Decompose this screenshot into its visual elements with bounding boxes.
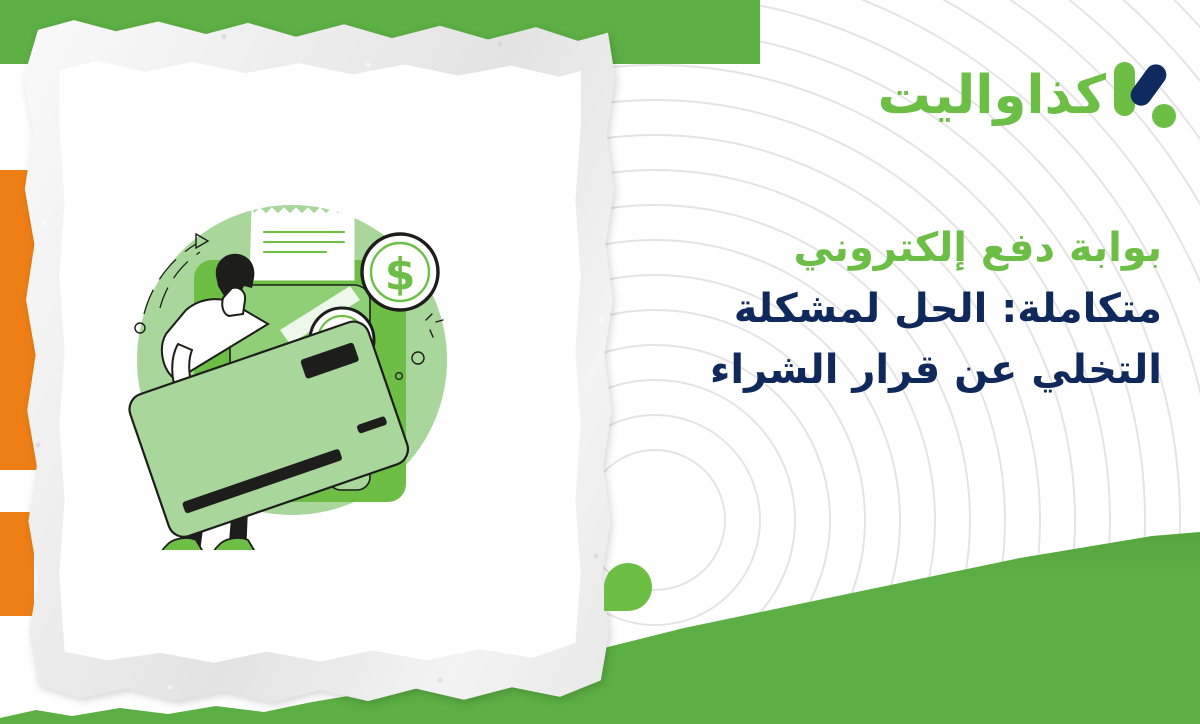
k-logo-mark-icon	[1112, 58, 1178, 132]
brand-logo-text: كذاواليت	[878, 69, 1106, 122]
headline-line-1: بوابة دفع إلكتروني	[602, 218, 1162, 279]
svg-text:$: $	[385, 249, 416, 300]
banner-canvas: $ $	[0, 0, 1200, 724]
payment-terminal-illustration: $ $	[100, 180, 480, 550]
headline-line-2: متكاملة: الحل لمشكلة	[602, 279, 1162, 340]
leaf-accent-shape	[604, 563, 652, 611]
headline-block: بوابة دفع إلكتروني متكاملة: الحل لمشكلة …	[602, 218, 1162, 400]
headline-line-3: التخلي عن قرار الشراء	[602, 340, 1162, 401]
brand-logo[interactable]: كذاواليت	[878, 58, 1178, 132]
